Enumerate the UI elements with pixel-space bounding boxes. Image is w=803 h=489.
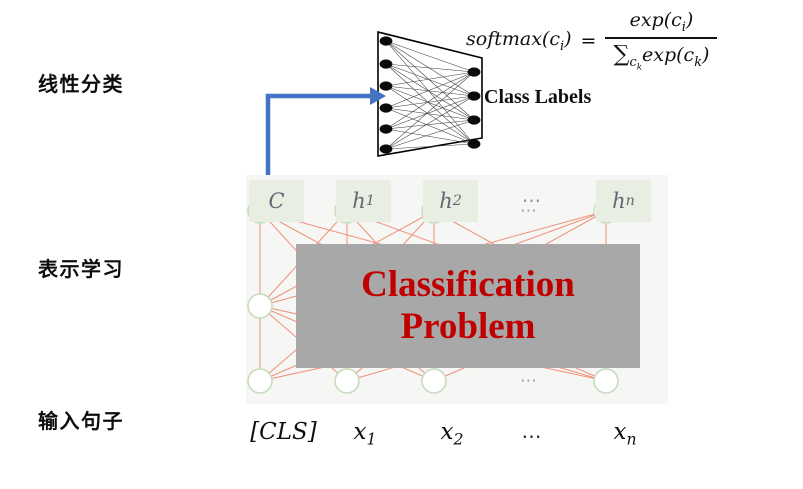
input-token-x2-subscript: 2 — [454, 430, 464, 449]
encoder-row-dots-bottom: ⋯ — [520, 371, 540, 391]
input-token-ellipsis: ⋯ — [508, 424, 558, 448]
formula-equals-sign: = — [579, 30, 599, 52]
stage-label-representation-learning: 表示学习 — [38, 253, 124, 282]
summation-sign: ∑ — [613, 41, 629, 67]
encoder-row-dots-top: ⋯ — [520, 201, 540, 221]
input-token-x2-text: x — [441, 419, 454, 445]
numerator-close: ) — [686, 9, 693, 31]
arrow-shaft — [268, 96, 370, 186]
hidden-state-hn-subscript: n — [626, 193, 635, 209]
summation-subscript: ck — [629, 55, 642, 70]
input-token-xn: xn — [605, 419, 645, 449]
input-token-cls-text: [CLS] — [250, 419, 317, 445]
hidden-state-c-text: C — [268, 189, 284, 213]
input-token-x1-text: x — [354, 419, 367, 445]
stage-label-linear-classification: 线性分类 — [38, 68, 124, 97]
arrow-c-to-classifier-icon — [262, 84, 390, 188]
hidden-state-hn: hn — [596, 180, 651, 222]
hidden-state-h2-subscript: 2 — [453, 193, 462, 209]
hidden-state-h1-subscript: 1 — [366, 193, 375, 209]
formula-fraction: exp(ci) ∑ckexp(ck) — [605, 9, 717, 72]
input-token-x1: x1 — [345, 419, 385, 449]
summation-sub-c: c — [629, 55, 636, 70]
hidden-state-h1-text: h — [352, 189, 366, 213]
diagram-canvas: 线性分类 表示学习 输入句子 softmax(ci) = exp(ci) ∑ck… — [0, 0, 803, 489]
denominator-text: exp(c — [642, 44, 694, 66]
hidden-state-h1: h1 — [336, 180, 391, 222]
hidden-state-h2-text: h — [439, 189, 453, 213]
classification-problem-overlay: Classification Problem — [296, 244, 640, 368]
denominator-subscript: k — [694, 55, 702, 70]
formula-denominator: ∑ckexp(ck) — [605, 39, 717, 72]
class-labels-caption: Class Labels — [484, 86, 591, 109]
input-token-xn-subscript: n — [626, 430, 636, 449]
input-token-cls: [CLS] — [246, 419, 321, 445]
arrow-head — [370, 87, 386, 105]
formula-numerator: exp(ci) — [620, 9, 704, 37]
input-token-x1-subscript: 1 — [367, 430, 377, 449]
formula-lhs-close: ) — [564, 28, 571, 50]
softmax-formula: softmax(ci) = exp(ci) ∑ckexp(ck) — [466, 6, 796, 76]
denominator-close: ) — [702, 44, 709, 66]
input-token-xn-text: x — [613, 419, 626, 445]
stage-label-input-sentence: 输入句子 — [38, 405, 124, 434]
hidden-state-c: C — [249, 180, 304, 222]
hidden-state-h2: h2 — [423, 180, 478, 222]
overlay-caption-line1: Classification — [361, 265, 575, 305]
hidden-state-hn-text: h — [612, 189, 626, 213]
overlay-caption-line2: Problem — [401, 307, 536, 347]
input-token-x2: x2 — [432, 419, 472, 449]
numerator-text: exp(c — [630, 9, 682, 31]
